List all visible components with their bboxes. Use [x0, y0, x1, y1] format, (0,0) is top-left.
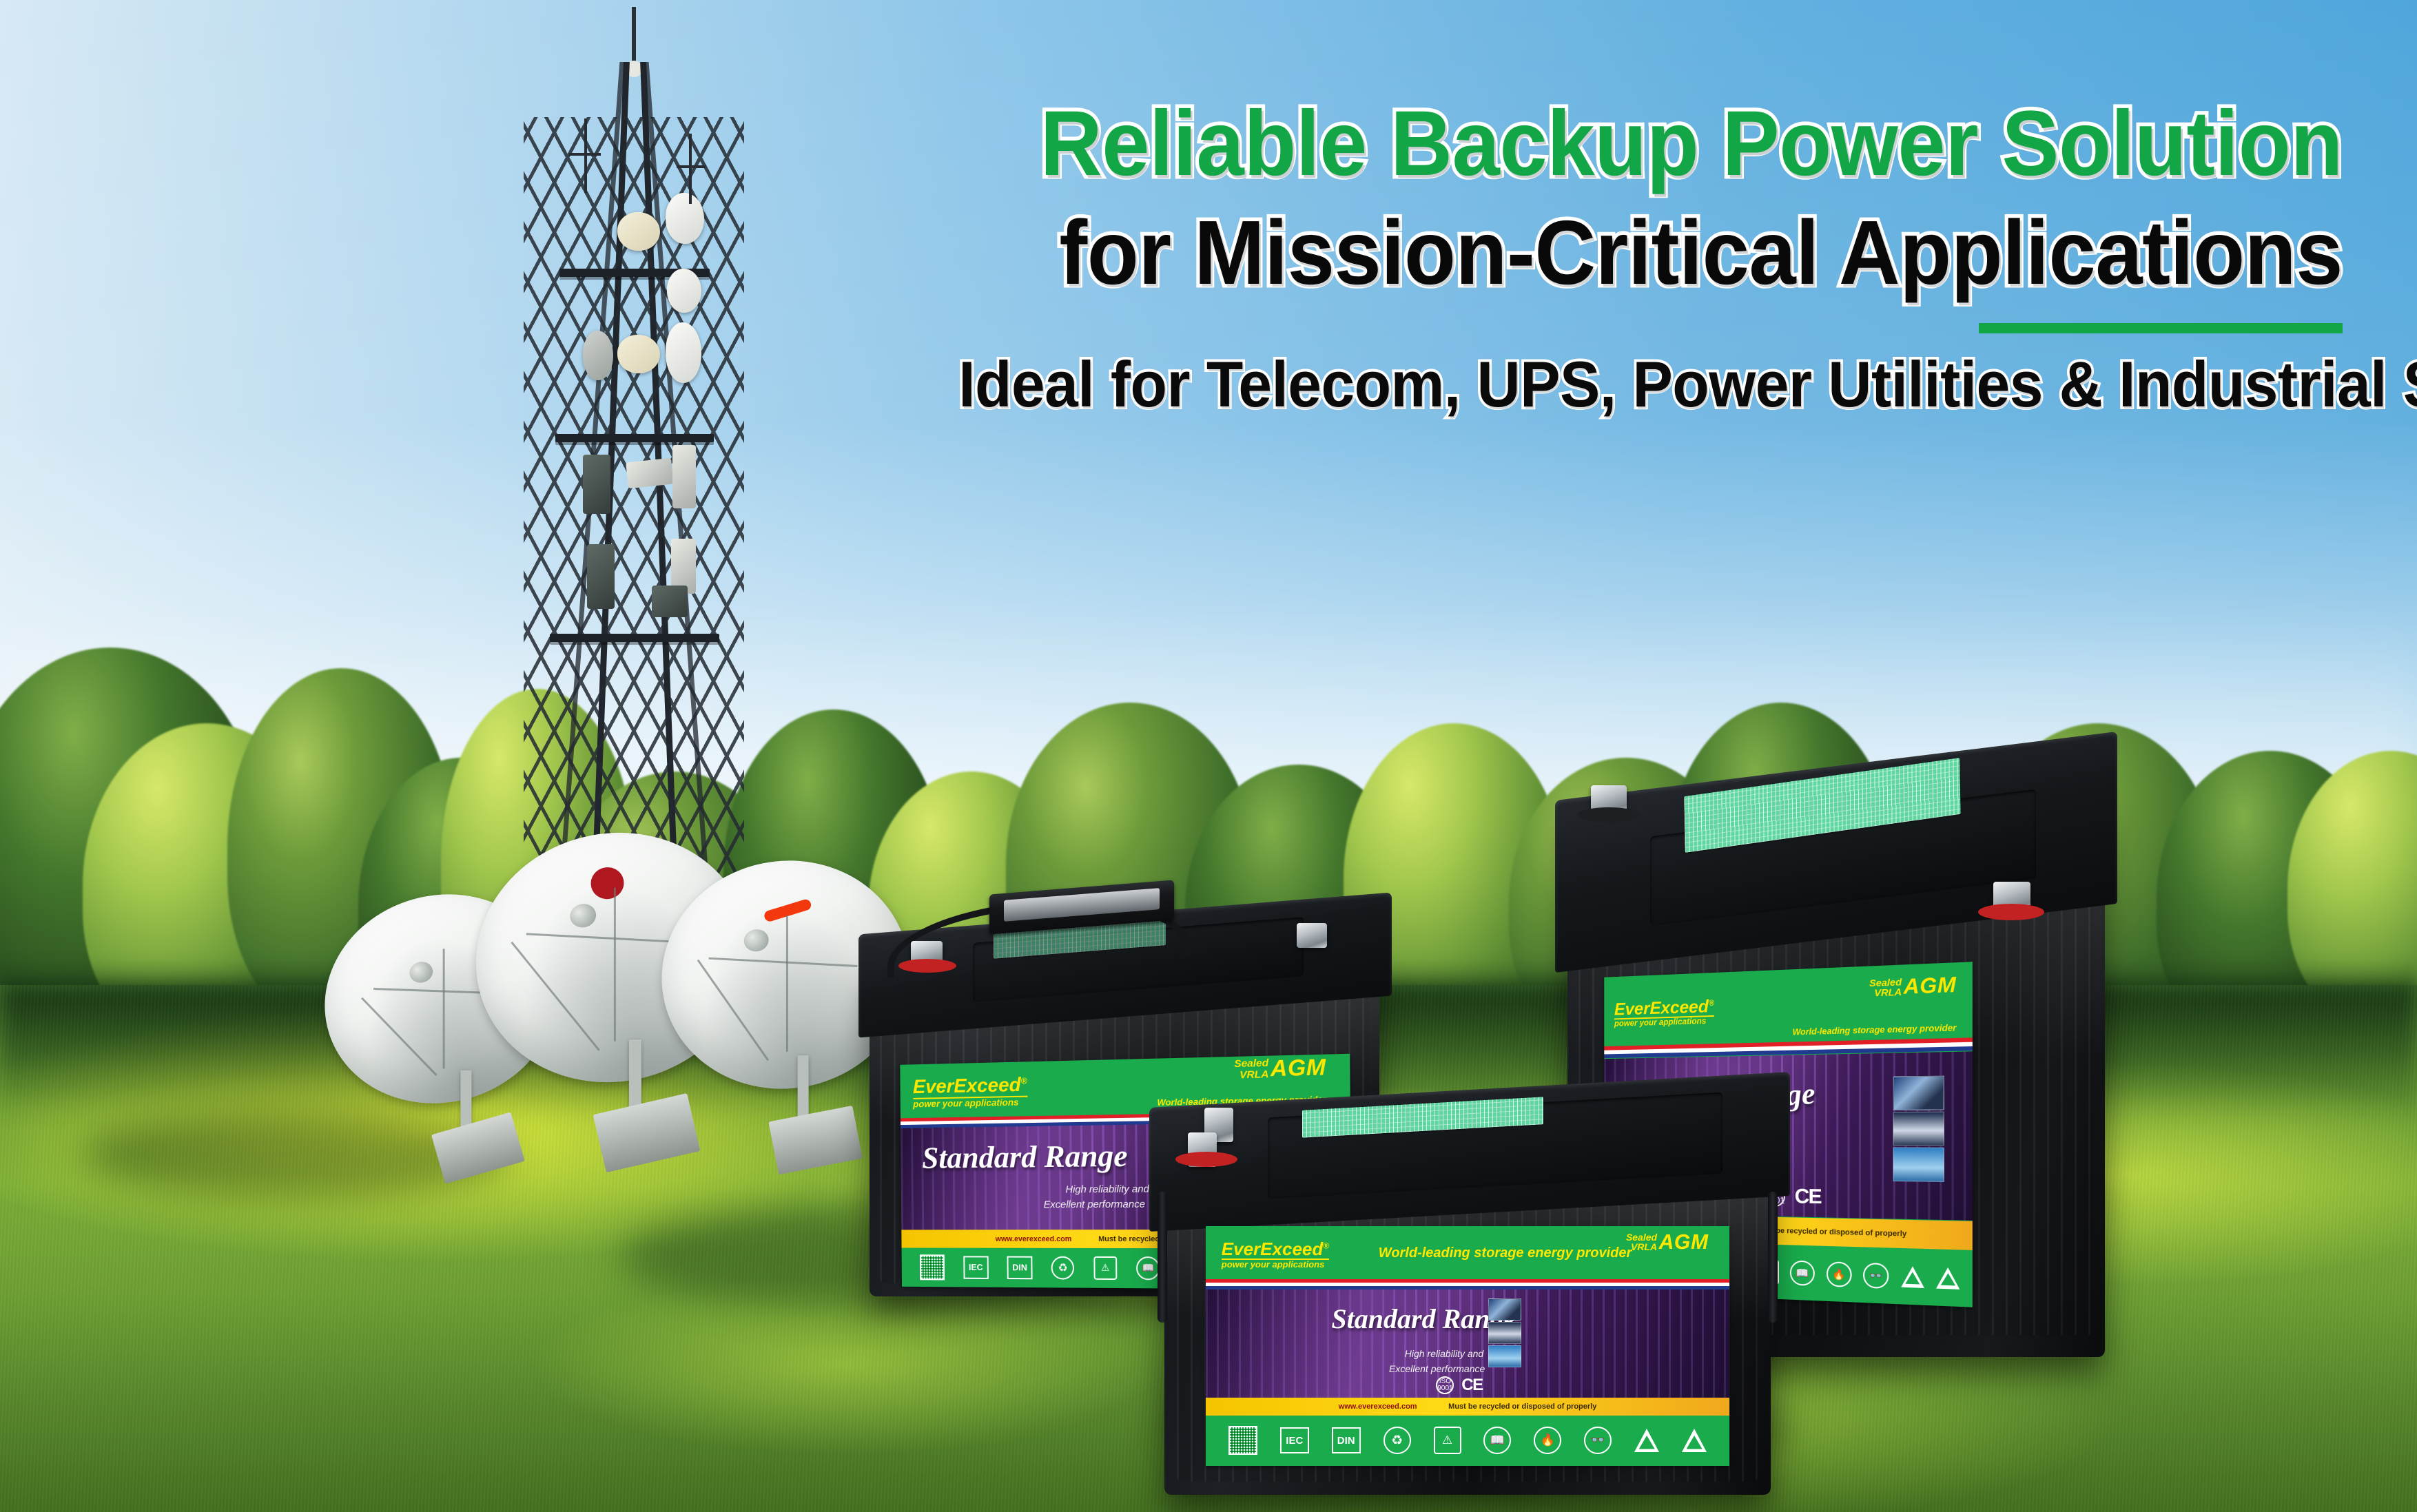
recycle-icon: ♻: [1384, 1427, 1411, 1454]
read-manual-icon: 📖: [1483, 1427, 1511, 1454]
iso-9001-icon: ISO 9001: [1436, 1376, 1454, 1394]
subheadline: Ideal for Telecom, UPS, Power Utilities …: [958, 346, 2343, 424]
read-manual-icon: 📖: [1790, 1260, 1815, 1285]
no-flame-no-sparks-icon: 🔥: [1534, 1427, 1561, 1454]
agm-badge: Sealed VRLA AGM: [1626, 1232, 1709, 1252]
qr-code-icon: [920, 1254, 945, 1280]
brand-tagline: power your applications: [1614, 1017, 1714, 1028]
brand-lockup: EverExceed® power your applications: [1614, 979, 1714, 1046]
application-photo-strip: [1893, 1076, 1944, 1182]
din-standard-icon: DIN: [1007, 1256, 1033, 1280]
photo-telecom-site: [1488, 1345, 1521, 1367]
brand-tagline: power your applications: [913, 1097, 1027, 1109]
label-vrla: VRLA: [1234, 1069, 1268, 1081]
headline-line-2: for Mission-Critical Applications: [958, 198, 2343, 307]
banner-canvas: Reliable Backup Power Solution for Missi…: [0, 0, 2417, 1512]
product-series-name: Standard Range: [922, 1137, 1128, 1176]
din-standard-icon: DIN: [1332, 1427, 1361, 1453]
photo-ups-system: [1488, 1322, 1521, 1344]
agm-badge: Sealed VRLA AGM: [1234, 1057, 1326, 1080]
label-website: www.everexceed.com: [996, 1235, 1072, 1243]
corrosive-acid-warning-icon: [1901, 1265, 1924, 1287]
label-disposal-notice: Must be recycled or disposed of properly: [1756, 1226, 1906, 1239]
side-carry-handle-left[interactable]: [1158, 1192, 1167, 1323]
brand-lockup: EverExceed® power your applications: [1222, 1231, 1329, 1279]
label-icon-row: IEC DIN ♻ ⚠ 📖 🔥 👓: [1206, 1416, 1729, 1466]
headline-accent-rule: [1979, 323, 2343, 333]
ce-mark-icon: CE: [1461, 1376, 1482, 1395]
no-flame-no-sparks-icon: 🔥: [1827, 1261, 1852, 1287]
label-agm: AGM: [1271, 1057, 1326, 1079]
explosive-gas-warning-icon: [1682, 1429, 1707, 1452]
label-website: www.everexceed.com: [1339, 1402, 1417, 1411]
battery-front-large[interactable]: EverExceed® power your applications Worl…: [1164, 1171, 1771, 1495]
explosive-gas-warning-icon: [1936, 1267, 1960, 1289]
label-disposal-notice: Must be recycled or disposed of properly: [1448, 1402, 1596, 1411]
product-subline-2: Excellent performance: [1389, 1363, 1485, 1376]
photo-telecom-site: [1893, 1148, 1944, 1182]
product-subline-1: High reliability and: [1065, 1183, 1149, 1197]
tower-mast: [632, 7, 636, 69]
label-agm: AGM: [1659, 1233, 1709, 1252]
no-household-waste-icon: ⚠: [1093, 1256, 1117, 1280]
side-carry-handle-right[interactable]: [1768, 1192, 1778, 1323]
label-stripe-band: [1206, 1279, 1729, 1290]
label-sealed: Sealed: [1626, 1232, 1657, 1242]
label-vrla: VRLA: [1869, 987, 1902, 998]
wear-eye-protection-icon: 👓: [1584, 1427, 1612, 1454]
read-manual-icon: 📖: [1136, 1256, 1160, 1280]
no-household-waste-icon: ⚠: [1434, 1427, 1461, 1454]
brand-name: EverExceed®: [1222, 1240, 1329, 1260]
qr-code-icon: [1228, 1426, 1257, 1455]
label-agm: AGM: [1904, 975, 1957, 997]
label-vrla: VRLA: [1626, 1242, 1657, 1252]
headline-block: Reliable Backup Power Solution for Missi…: [854, 90, 2343, 423]
corrosive-acid-warning-icon: [1634, 1429, 1659, 1452]
brand-tagline: power your applications: [1222, 1260, 1329, 1270]
iec-standard-icon: IEC: [1280, 1427, 1309, 1453]
agm-badge: Sealed VRLA AGM: [1869, 975, 1956, 998]
ce-mark-icon: CE: [1795, 1185, 1821, 1209]
certification-marks: ISO 9001 CE: [1436, 1376, 1482, 1395]
satellite-dish-group: [324, 813, 903, 1109]
handle-shine: [1004, 889, 1159, 922]
label-strapline: World-leading storage energy provider: [1379, 1245, 1632, 1261]
photo-control-room: [1488, 1298, 1521, 1321]
product-subline-1: High reliability and: [1405, 1348, 1483, 1360]
product-subline-2: Excellent performance: [1044, 1198, 1146, 1211]
iec-standard-icon: IEC: [963, 1256, 989, 1278]
recycle-icon: ♻: [1051, 1256, 1075, 1280]
application-photo-strip: [1488, 1298, 1521, 1367]
product-label: EverExceed® power your applications Worl…: [1206, 1226, 1729, 1466]
photo-ups-system: [1893, 1112, 1944, 1146]
wear-eye-protection-icon: 👓: [1863, 1262, 1889, 1288]
photo-control-room: [1893, 1076, 1944, 1110]
label-disposal-band: www.everexceed.com Must be recycled or d…: [1206, 1398, 1729, 1416]
battery-terminal-negative: [1297, 923, 1327, 948]
label-body-panel: Standard Range High reliability and Exce…: [1206, 1290, 1729, 1398]
brand-name: EverExceed®: [913, 1075, 1027, 1099]
brand-lockup: EverExceed® power your applications: [913, 1066, 1028, 1118]
headline-line-1: Reliable Backup Power Solution: [958, 90, 2343, 198]
